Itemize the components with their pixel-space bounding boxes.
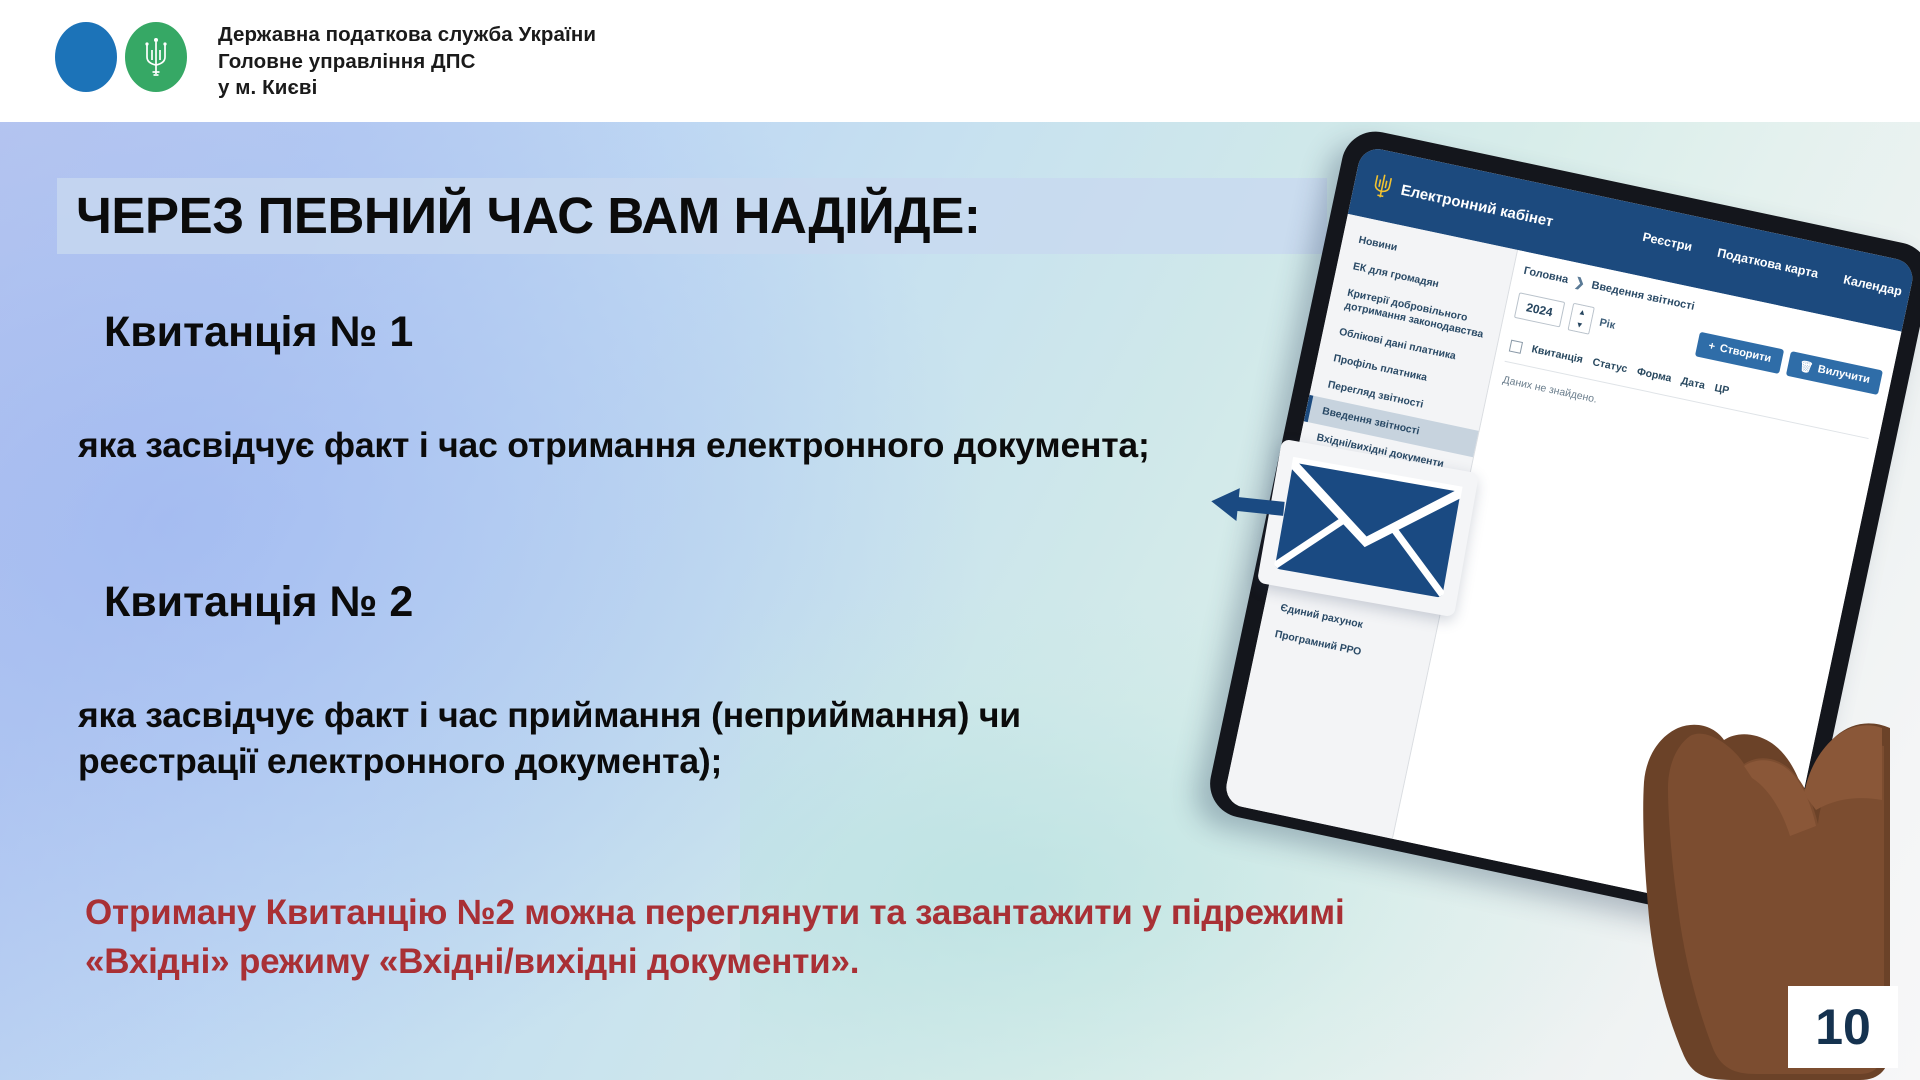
delete-button-label: Вилучити xyxy=(1817,363,1871,386)
page-number: 10 xyxy=(1788,986,1898,1068)
receipt2-label: Квитанція № 2 xyxy=(104,578,413,627)
arrow-left-icon xyxy=(1206,482,1288,530)
page-title: ЧЕРЕЗ ПЕВНИЙ ЧАС ВАМ НАДІЙДЕ: xyxy=(76,186,980,245)
breadcrumb-home[interactable]: Головна xyxy=(1523,265,1570,286)
header-text-block: Державна податкова служба України Головн… xyxy=(218,22,596,102)
receipt2-description: яка засвідчує факт і час приймання (непр… xyxy=(78,692,1178,784)
year-stepper[interactable]: ▲ ▼ xyxy=(1567,303,1594,335)
year-input[interactable]: 2024 xyxy=(1514,292,1565,327)
logo-blue-circle xyxy=(55,22,117,92)
header-line-3: у м. Києві xyxy=(218,75,596,102)
slide-content: ЧЕРЕЗ ПЕВНИЙ ЧАС ВАМ НАДІЙДЕ: Квитанція … xyxy=(0,0,1300,1080)
select-all-checkbox[interactable] xyxy=(1509,340,1523,354)
organization-logo xyxy=(55,22,205,94)
header-line-2: Головне управління ДПС xyxy=(218,49,596,76)
trident-emblem-icon xyxy=(143,36,169,78)
app-nav-calendar[interactable]: Календар xyxy=(1842,273,1903,299)
receipt1-description: яка засвідчує факт і час отримання елект… xyxy=(78,422,1178,468)
column-date[interactable]: Дата xyxy=(1680,375,1706,392)
header-line-1: Державна податкова служба України xyxy=(218,22,596,49)
app-nav-registries[interactable]: Реєстри xyxy=(1641,230,1693,254)
plus-icon: + xyxy=(1707,340,1716,353)
app-nav-tax-map[interactable]: Податкова карта xyxy=(1716,246,1820,281)
column-status[interactable]: Статус xyxy=(1591,356,1628,375)
year-label: Рік xyxy=(1598,317,1616,332)
column-cr[interactable]: ЦР xyxy=(1713,382,1730,397)
pointer-arrow xyxy=(1206,482,1288,530)
note-text: Отриману Квитанцію №2 можна переглянути … xyxy=(85,888,1345,986)
breadcrumb-current: Введення звітності xyxy=(1590,279,1695,313)
slide-root: Державна податкова служба України Головн… xyxy=(0,0,1920,1080)
column-form[interactable]: Форма xyxy=(1636,366,1673,385)
page-header: Державна податкова служба України Головн… xyxy=(0,0,1920,122)
chevron-right-icon: ❯ xyxy=(1574,275,1587,291)
create-button[interactable]: + Створити xyxy=(1695,331,1784,373)
chevron-down-icon[interactable]: ▼ xyxy=(1568,317,1590,334)
delete-button[interactable]: 🗑 Вилучити xyxy=(1786,351,1883,395)
create-button-label: Створити xyxy=(1719,342,1773,365)
column-receipt[interactable]: Квитанція xyxy=(1531,343,1585,366)
trident-emblem-icon xyxy=(1370,169,1396,203)
receipt1-label: Квитанція № 1 xyxy=(104,308,413,357)
trash-icon: 🗑 xyxy=(1798,359,1814,375)
app-brand-label: Електронний кабінет xyxy=(1399,181,1555,230)
